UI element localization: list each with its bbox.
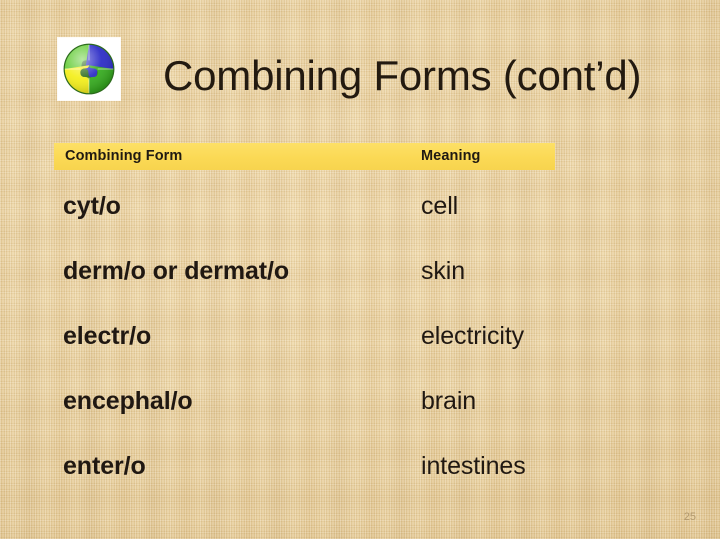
table-row: electr/o electricity [54, 300, 555, 365]
cell-meaning: brain [421, 387, 476, 416]
cell-meaning: electricity [421, 322, 524, 351]
combining-forms-table: Combining Form Meaning cyt/o cell derm/o… [54, 143, 555, 495]
cell-meaning: cell [421, 192, 458, 221]
column-header-meaning: Meaning [421, 148, 481, 164]
table-row: derm/o or dermat/o skin [54, 235, 555, 300]
cell-combining-form: electr/o [63, 322, 151, 351]
table-row: enter/o intestines [54, 430, 555, 495]
logo-plate [58, 38, 120, 100]
slide-number: 25 [684, 511, 696, 523]
cell-combining-form: encephal/o [63, 387, 193, 416]
cell-meaning: skin [421, 257, 465, 286]
cell-meaning: intestines [421, 452, 526, 481]
slide-canvas: Combining Forms (cont’d) Combining Form … [0, 0, 720, 539]
cell-combining-form: derm/o or dermat/o [63, 257, 289, 286]
table-header-row: Combining Form Meaning [54, 143, 555, 170]
cell-combining-form: enter/o [63, 452, 146, 481]
puzzle-globe-icon [58, 38, 120, 100]
table-row: cyt/o cell [54, 170, 555, 235]
table-row: encephal/o brain [54, 365, 555, 430]
column-header-combining-form: Combining Form [65, 148, 182, 164]
cell-combining-form: cyt/o [63, 192, 121, 221]
page-title: Combining Forms (cont’d) [163, 50, 641, 102]
puzzle-gloss [65, 45, 113, 93]
